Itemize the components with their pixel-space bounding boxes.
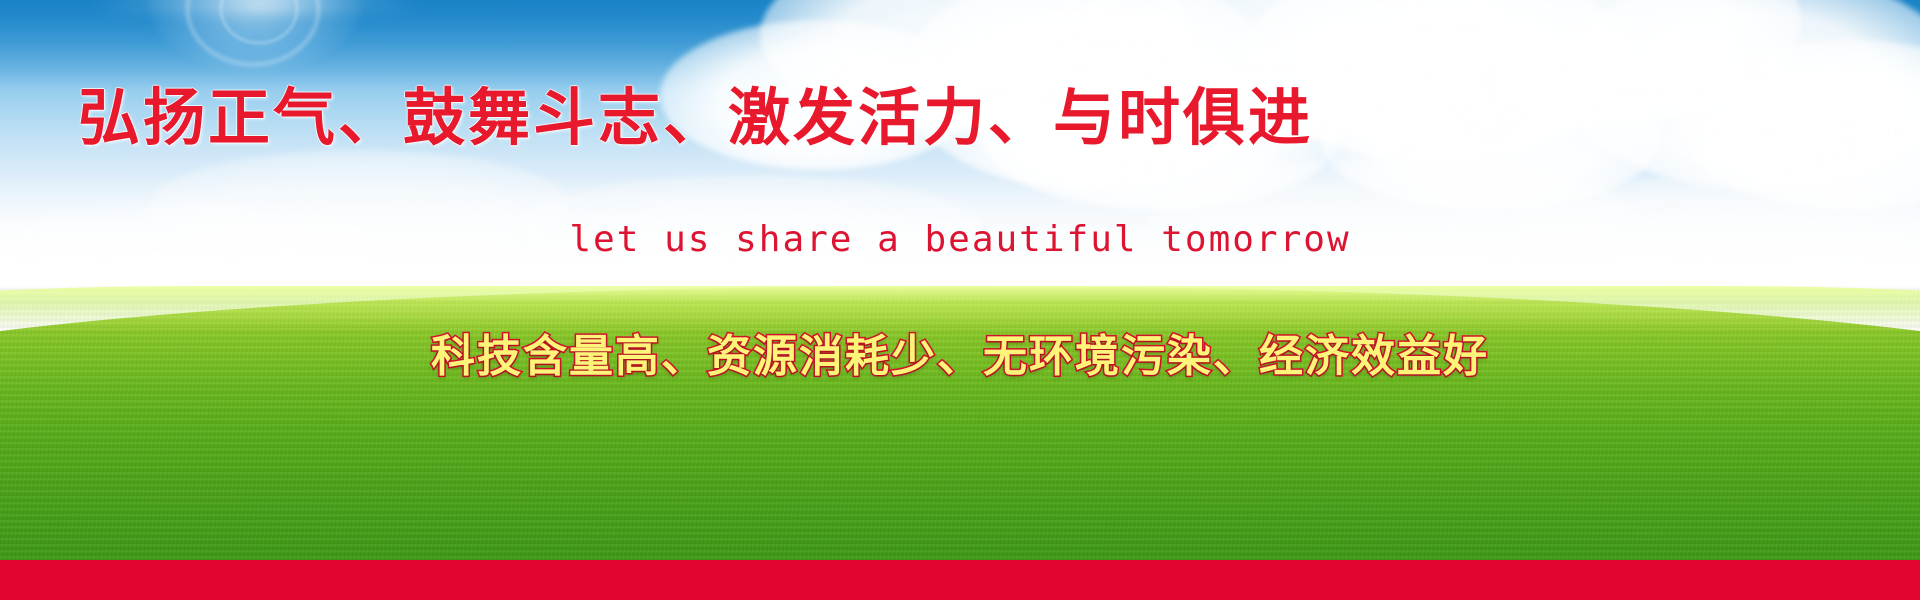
english-subtitle-text: let us share a beautiful tomorrow — [0, 222, 1920, 258]
tagline-text: 科技含量高、资源消耗少、无环境污染、经济效益好 — [0, 335, 1920, 379]
promotional-banner: 弘扬正气、鼓舞斗志、激发活力、与时俱进 let us share a beaut… — [0, 0, 1920, 600]
footer-bar — [0, 560, 1920, 600]
sky-top-gradient — [0, 0, 1920, 90]
grass-field — [0, 286, 1920, 560]
headline-text: 弘扬正气、鼓舞斗志、激发活力、与时俱进 — [78, 88, 1313, 150]
grass-horizon-highlight — [0, 286, 1920, 332]
